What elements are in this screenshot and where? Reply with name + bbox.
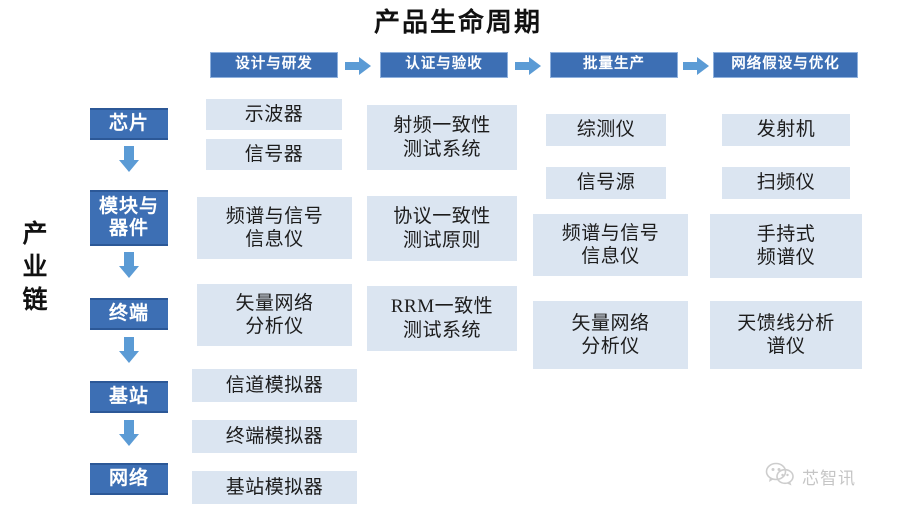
watermark: 芯智讯	[765, 462, 856, 491]
industry-chain-label: 产 业 链	[12, 218, 58, 317]
arrow-down-icon	[119, 146, 139, 172]
arrow-right-icon	[345, 57, 371, 75]
item-box[interactable]: RRM一致性 测试系统	[367, 286, 517, 351]
arrow-right-icon	[515, 57, 541, 75]
chain-node-network[interactable]: 网络	[90, 463, 168, 495]
item-box[interactable]: 频谱与信号 信息仪	[533, 214, 688, 276]
item-box[interactable]: 基站模拟器	[192, 471, 357, 504]
item-box[interactable]: 射频一致性 测试系统	[367, 105, 517, 170]
item-box[interactable]: 频谱与信号 信息仪	[197, 197, 352, 259]
item-box[interactable]: 综测仪	[546, 114, 666, 146]
chain-node-module-device[interactable]: 模块与 器件	[90, 190, 168, 246]
chain-node-base-station[interactable]: 基站	[90, 381, 168, 413]
stage-header-mass-production[interactable]: 批量生产	[550, 52, 678, 78]
item-box[interactable]: 信号器	[206, 139, 342, 170]
item-box[interactable]: 扫频仪	[722, 167, 850, 199]
chain-label-char: 业	[12, 251, 58, 284]
arrow-right-icon	[683, 57, 709, 75]
arrow-down-icon	[119, 337, 139, 363]
item-box[interactable]: 天馈线分析 谱仪	[710, 301, 862, 369]
page-title: 产品生命周期	[0, 2, 916, 39]
chain-label-char: 产	[12, 218, 58, 251]
stage-header-network-optimization[interactable]: 网络假设与优化	[713, 52, 858, 78]
item-box[interactable]: 终端模拟器	[192, 420, 357, 453]
chain-node-chip[interactable]: 芯片	[90, 108, 168, 140]
item-box[interactable]: 信号源	[546, 167, 666, 199]
item-box[interactable]: 矢量网络 分析仪	[533, 301, 688, 369]
stage-header-design[interactable]: 设计与研发	[210, 52, 338, 78]
watermark-text: 芯智讯	[802, 464, 856, 489]
item-box[interactable]: 示波器	[206, 99, 342, 130]
item-box[interactable]: 信道模拟器	[192, 369, 357, 402]
item-box[interactable]: 手持式 频谱仪	[710, 214, 862, 278]
arrow-down-icon	[119, 252, 139, 278]
item-box[interactable]: 矢量网络 分析仪	[197, 284, 352, 346]
item-box[interactable]: 协议一致性 测试原则	[367, 196, 517, 261]
chain-node-terminal[interactable]: 终端	[90, 298, 168, 330]
stage-header-certification[interactable]: 认证与验收	[380, 52, 508, 78]
chain-label-char: 链	[12, 284, 58, 317]
arrow-down-icon	[119, 420, 139, 446]
item-box[interactable]: 发射机	[722, 114, 850, 146]
wechat-icon	[765, 462, 795, 491]
